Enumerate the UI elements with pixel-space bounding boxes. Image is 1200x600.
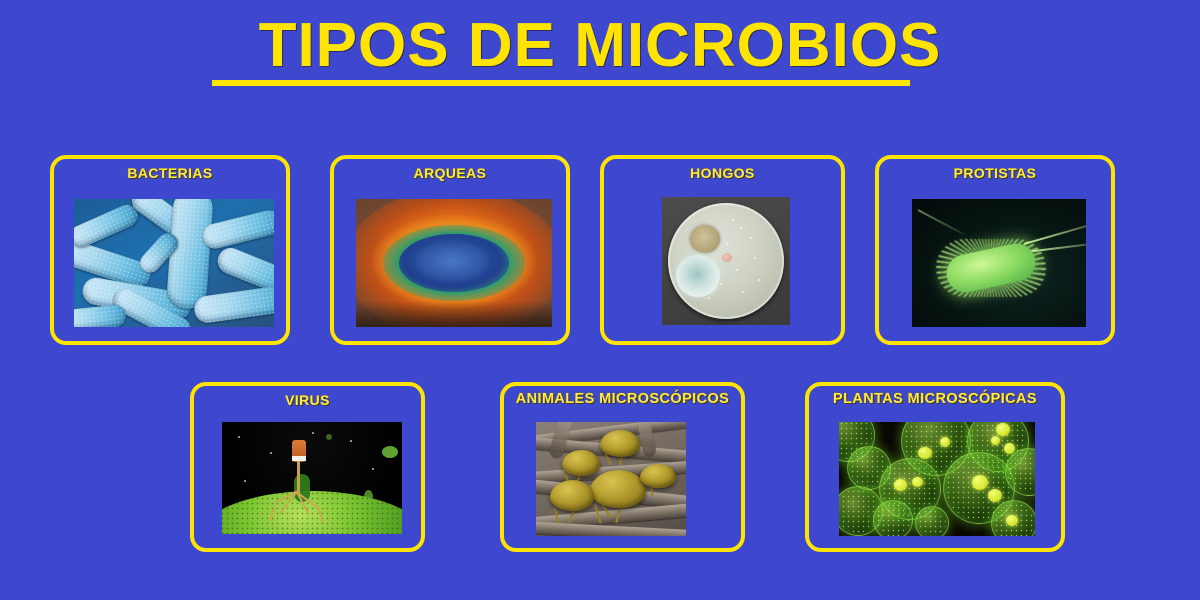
image-hongos [662, 197, 790, 325]
card-label-arqueas: ARQUEAS [334, 165, 566, 181]
card-plantas-microscopicas[interactable]: PLANTAS MICROSCÓPICAS [805, 382, 1065, 552]
image-virus [222, 422, 402, 534]
card-virus[interactable]: VIRUS [190, 382, 425, 552]
card-label-plantas-microscopicas: PLANTAS MICROSCÓPICAS [809, 391, 1061, 407]
image-animales-microscopicos [536, 422, 686, 536]
card-animales-microscopicos[interactable]: ANIMALES MICROSCÓPICOS [500, 382, 745, 552]
card-label-virus: VIRUS [194, 392, 421, 408]
card-label-bacterias: BACTERIAS [54, 165, 286, 181]
card-label-animales-microscopicos: ANIMALES MICROSCÓPICOS [504, 391, 741, 407]
card-bacterias[interactable]: BACTERIAS [50, 155, 290, 345]
slide-canvas: TIPOS DE MICROBIOS BACTERIAS ARQUEAS [0, 0, 1200, 600]
page-title: TIPOS DE MICROBIOS [259, 14, 942, 77]
card-arqueas[interactable]: ARQUEAS [330, 155, 570, 345]
card-label-hongos: HONGOS [604, 165, 841, 181]
page-title-wrap: TIPOS DE MICROBIOS [0, 14, 1200, 77]
card-protistas[interactable]: PROTISTAS [875, 155, 1115, 345]
image-bacterias [74, 199, 274, 327]
title-underline [212, 80, 910, 86]
image-arqueas [356, 199, 552, 327]
image-protistas [912, 199, 1086, 327]
card-label-protistas: PROTISTAS [879, 165, 1111, 181]
card-hongos[interactable]: HONGOS [600, 155, 845, 345]
image-plantas-microscopicas [839, 422, 1035, 536]
